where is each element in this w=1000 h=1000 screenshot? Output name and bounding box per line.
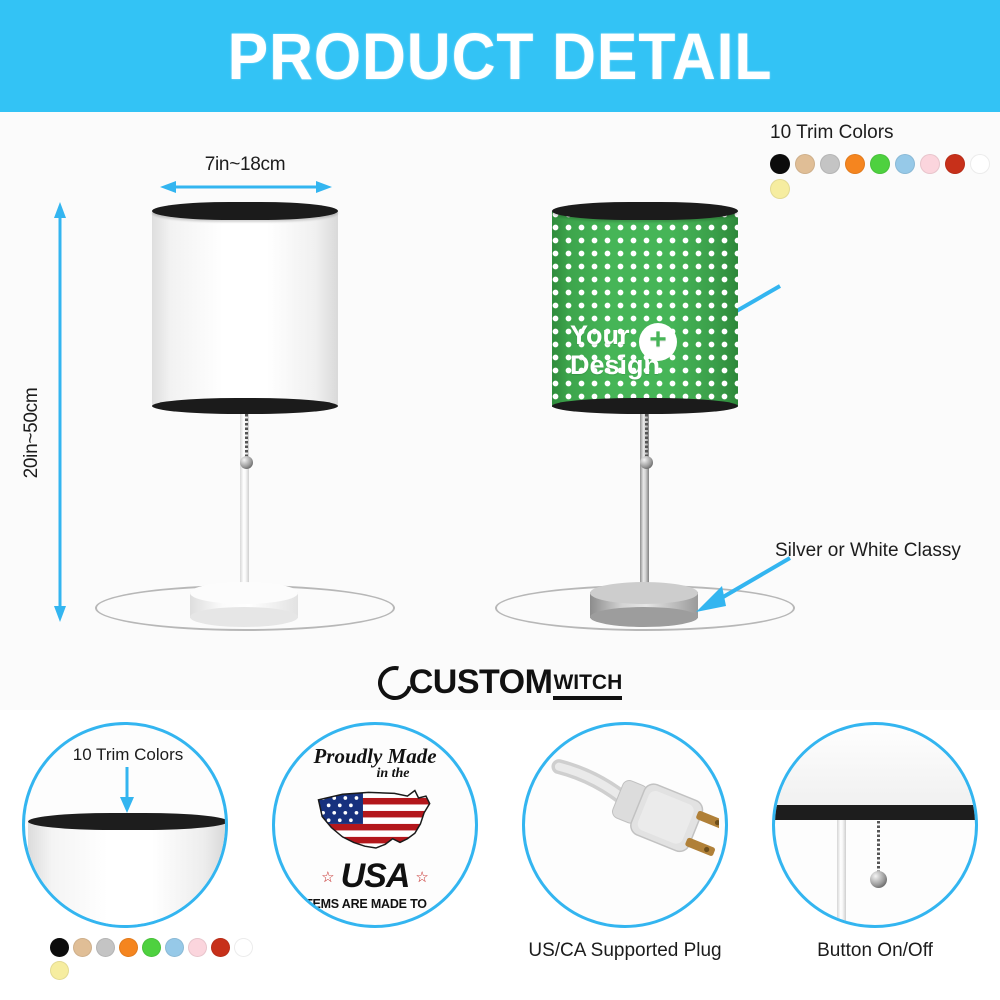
swatch-light-blue[interactable] xyxy=(165,938,184,957)
shade-top-trim xyxy=(152,202,338,220)
chain-line-icon xyxy=(245,414,248,458)
chain-ball-icon xyxy=(240,456,253,469)
swatch-orange[interactable] xyxy=(845,154,865,174)
base-top xyxy=(590,582,698,604)
usa-script-line1: Proudly Made xyxy=(313,744,436,768)
swatch-light-blue[interactable] xyxy=(895,154,915,174)
swatch-pink[interactable] xyxy=(188,938,207,957)
brand-logo: CUSTOM WITCH xyxy=(0,655,1000,710)
feature-circle xyxy=(772,722,978,928)
base-bottom xyxy=(590,607,698,627)
swatch-red[interactable] xyxy=(211,938,230,957)
lamp-base xyxy=(190,582,298,622)
feature-made-in-usa: Proudly Made in the xyxy=(250,710,500,1000)
shade-bottom-trim xyxy=(152,398,338,414)
green-lamp-shade: Your Design + xyxy=(552,202,738,417)
shade-closeup xyxy=(772,731,978,809)
swatch-tan[interactable] xyxy=(795,154,815,174)
shade-body xyxy=(152,211,338,407)
swatch-yellow[interactable] xyxy=(770,179,790,199)
trim-colors-callout: 10 Trim Colors xyxy=(770,122,1000,199)
page-title: PRODUCT DETAIL xyxy=(228,18,773,94)
white-lamp-shade xyxy=(152,202,338,417)
feature-circle: Proudly Made in the xyxy=(272,722,478,928)
us-power-plug-icon xyxy=(537,753,719,903)
usa-map-flag-icon xyxy=(306,785,444,861)
usa-wordmark-row: ☆ USA ☆ xyxy=(321,857,429,896)
feature-highlights-row: 10 Trim Colors Proudly Made in the xyxy=(0,710,1000,1000)
usa-tagline: ALL ITEMS ARE MADE TO ORDER! xyxy=(275,897,475,925)
swatch-green[interactable] xyxy=(142,938,161,957)
brand-name-primary: CUSTOM xyxy=(409,663,553,702)
swatch-red[interactable] xyxy=(945,154,965,174)
swatch-tan[interactable] xyxy=(73,938,92,957)
base-top xyxy=(190,582,298,604)
swatch-yellow[interactable] xyxy=(50,961,69,980)
feature-pull-switch: Button On/Off xyxy=(750,710,1000,1000)
lamp-base xyxy=(590,582,698,622)
swatch-gray[interactable] xyxy=(96,938,115,957)
main-product-stage: 7in~18cm 20in~50cm xyxy=(0,112,1000,710)
star-icon-left: ☆ xyxy=(321,868,334,886)
swatch-black[interactable] xyxy=(770,154,790,174)
shade-trim-closeup xyxy=(772,805,978,820)
swatch-gray[interactable] xyxy=(820,154,840,174)
feature-trim-colors: 10 Trim Colors xyxy=(0,710,250,1000)
chain-line-icon xyxy=(645,414,648,458)
feature-circle xyxy=(522,722,728,928)
width-dimension: 7in~18cm xyxy=(160,154,330,176)
feature-power-plug-caption: US/CA Supported Plug xyxy=(500,940,750,962)
base-finish-arrow-icon xyxy=(690,550,800,615)
trim-colors-label: 10 Trim Colors xyxy=(770,122,1000,144)
swatch-green[interactable] xyxy=(870,154,890,174)
swatch-white[interactable] xyxy=(970,154,990,174)
shade-surface xyxy=(152,211,338,407)
usa-script-text: Proudly Made in the xyxy=(313,747,436,783)
brand-name-secondary: WITCH xyxy=(553,671,622,700)
feature-power-plug: US/CA Supported Plug xyxy=(500,710,750,1000)
shade-bottom-trim xyxy=(552,398,738,414)
feature-trim-colors-label: 10 Trim Colors xyxy=(25,745,228,765)
lamp-pole-closeup xyxy=(837,820,846,928)
base-bottom xyxy=(190,607,298,627)
usa-badge: Proudly Made in the xyxy=(275,725,475,925)
shade-top-trim xyxy=(552,202,738,220)
feature-circle: 10 Trim Colors xyxy=(22,722,228,928)
add-design-plus-icon[interactable]: + xyxy=(639,323,677,361)
your-design-placeholder: Your Design + xyxy=(552,320,738,400)
feature-pull-switch-caption: Button On/Off xyxy=(750,940,1000,962)
design-line-1: Your xyxy=(570,320,630,350)
star-icon-right: ☆ xyxy=(415,868,428,886)
base-finish-label: Silver or White Classy xyxy=(775,540,961,562)
swatch-black[interactable] xyxy=(50,938,69,957)
height-arrow-icon xyxy=(52,202,68,622)
down-arrow-icon xyxy=(117,767,137,813)
swatch-pink[interactable] xyxy=(920,154,940,174)
swatch-orange[interactable] xyxy=(119,938,138,957)
height-dimension: 20in~50cm xyxy=(21,343,43,523)
width-dimension-label: 7in~18cm xyxy=(205,154,286,175)
trim-color-swatches-bottom[interactable] xyxy=(50,938,265,980)
shade-trim-closeup xyxy=(28,813,228,830)
chain-ball-icon xyxy=(870,871,887,888)
usa-wordmark: USA xyxy=(341,857,410,896)
header-banner: PRODUCT DETAIL xyxy=(0,0,1000,112)
shade-body-closeup xyxy=(28,821,228,928)
trim-color-swatches[interactable] xyxy=(770,154,1000,199)
chain-ball-icon xyxy=(640,456,653,469)
white-lamp xyxy=(130,192,360,652)
chain-line-icon xyxy=(877,821,880,873)
height-dimension-label: 20in~50cm xyxy=(21,388,42,479)
